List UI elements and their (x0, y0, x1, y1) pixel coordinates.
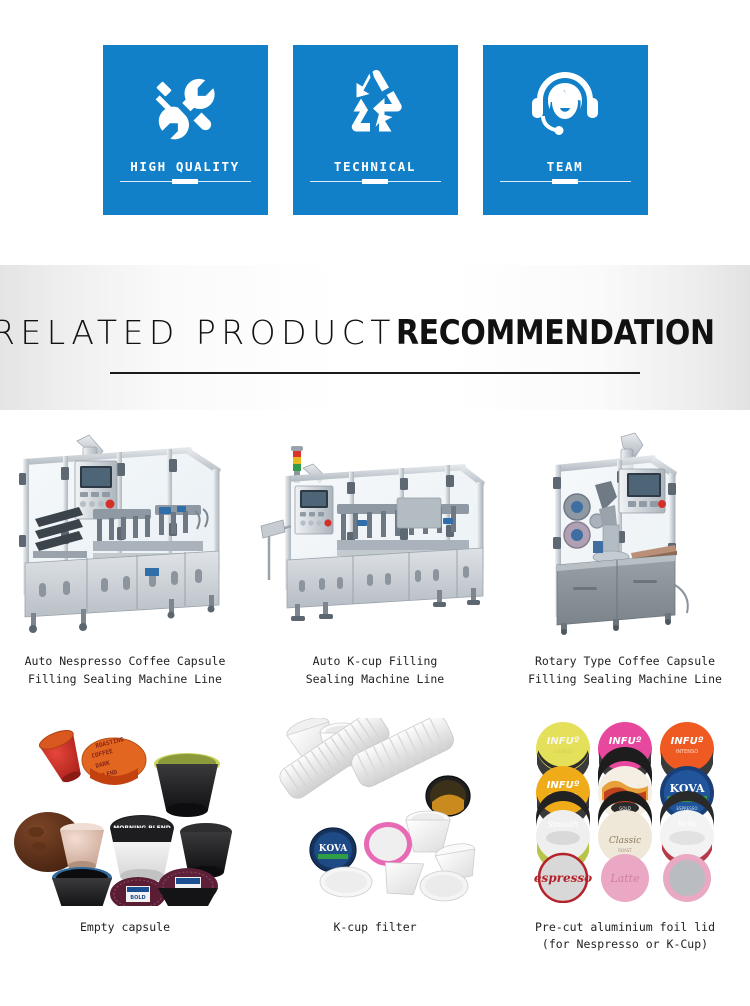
svg-text:LUNGO: LUNGO (554, 749, 572, 755)
svg-text:Smooth: Smooth (547, 820, 578, 829)
recycle-icon (338, 63, 412, 145)
svg-text:ROAST: ROAST (618, 848, 632, 853)
product-caption: Auto Nespresso Coffee Capsule Filling Se… (25, 653, 226, 689)
feature-cards-section: HIGH QUALITY TECHNICAL (0, 0, 750, 265)
auto-nespresso-capsule-machine-photo[interactable] (0, 415, 250, 645)
feature-card-technical[interactable]: TECHNICAL (293, 45, 458, 215)
product-row-consumables: ROASTING COFFEE DARK BLEND (0, 711, 750, 955)
banner-underline (110, 372, 640, 374)
svg-text:KOVA: KOVA (319, 844, 349, 854)
feature-card-label: HIGH QUALITY (130, 159, 240, 174)
svg-text:INFUº: INFUº (609, 736, 642, 747)
product-card-kcup-filter[interactable]: KOVA (250, 711, 500, 955)
feature-card-underline (120, 181, 251, 182)
feature-card-team[interactable]: TEAM (483, 45, 648, 215)
page-title-bold: RECOMMENDATION (396, 316, 715, 350)
feature-card-high-quality[interactable]: HIGH QUALITY (103, 45, 268, 215)
rotary-capsule-machine-photo[interactable] (500, 415, 750, 645)
product-caption: Pre-cut aluminium foil lid (for Nespress… (535, 919, 715, 955)
product-caption: K-cup filter (333, 919, 416, 937)
auto-kcup-filling-machine-photo[interactable] (250, 415, 500, 645)
svg-text:Classic: Classic (609, 836, 641, 846)
svg-text:INFUº: INFUº (547, 736, 580, 747)
headset-support-icon (528, 63, 602, 145)
svg-text:BOLD: BOLD (130, 895, 145, 901)
product-card-rotary-capsule[interactable]: Rotary Type Coffee Capsule Filling Seali… (500, 415, 750, 689)
feature-card-underline (310, 181, 441, 182)
feature-card-label: TECHNICAL (334, 159, 416, 174)
product-card-auto-nespresso[interactable]: Auto Nespresso Coffee Capsule Filling Se… (0, 415, 250, 689)
product-card-foil-lid[interactable]: INFUº LUNGO INFUº FORTE INFUº INTENSO (500, 711, 750, 955)
product-caption: Rotary Type Coffee Capsule Filling Seali… (528, 653, 722, 689)
product-card-auto-kcup[interactable]: Auto K-cup Filling Sealing Machine Line (250, 415, 500, 689)
svg-text:Latte: Latte (609, 872, 640, 885)
empty-capsule-photo[interactable]: ROASTING COFFEE DARK BLEND (0, 711, 250, 911)
svg-text:Bella: Bella (677, 820, 696, 828)
product-caption: Empty capsule (80, 919, 170, 937)
kcup-filter-photo[interactable]: KOVA (250, 711, 500, 911)
product-grid: Auto Nespresso Coffee Capsule Filling Se… (0, 415, 750, 954)
svg-text:espresso: espresso (534, 871, 592, 885)
svg-text:INTENSO: INTENSO (676, 749, 698, 755)
page-title: RELATED PRODUCTRECOMMENDATION (0, 316, 750, 350)
foil-lid-photo[interactable]: INFUº LUNGO INFUº FORTE INFUº INTENSO (500, 711, 750, 911)
product-row-machines: Auto Nespresso Coffee Capsule Filling Se… (0, 415, 750, 689)
wrench-screwdriver-icon (148, 63, 222, 145)
feature-card-underline (500, 181, 631, 182)
svg-text:INFUº: INFUº (547, 780, 580, 791)
product-caption: Auto K-cup Filling Sealing Machine Line (306, 653, 444, 689)
product-card-empty-capsule[interactable]: ROASTING COFFEE DARK BLEND (0, 711, 250, 955)
section-banner: RELATED PRODUCTRECOMMENDATION (0, 265, 750, 410)
svg-text:INFUº: INFUº (671, 736, 704, 747)
page-title-light: RELATED PRODUCT (0, 313, 396, 352)
feature-card-label: TEAM (547, 159, 584, 174)
